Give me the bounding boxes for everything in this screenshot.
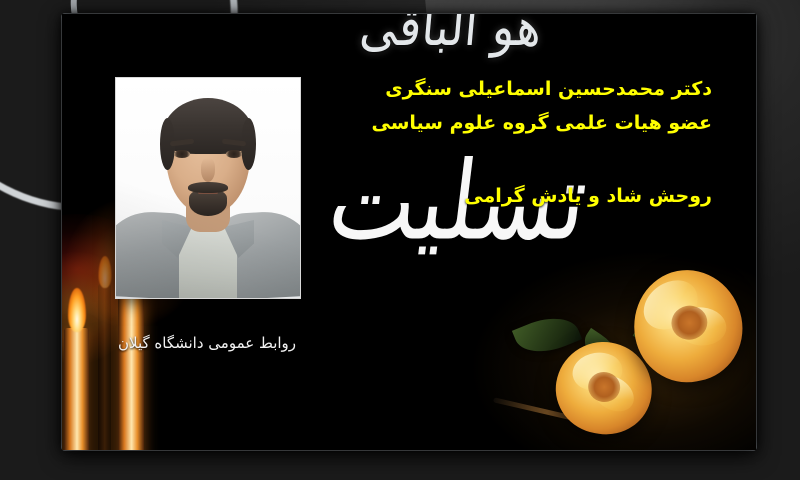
rose-icon-right [624,261,751,392]
candle-flame-icon [68,288,86,332]
metallic-picture-frame: هو الباقی تسلیت [62,14,756,450]
rose-petal [570,349,625,394]
candle-flame-icon [98,256,111,288]
candle-icon-2 [64,280,89,450]
portrait-image [116,78,300,298]
poster-canvas: هو الباقی تسلیت [62,14,756,450]
rose-petal [675,305,728,347]
portrait-nose [201,158,215,182]
portrait-photo [116,78,300,298]
candle-body [98,284,111,450]
roses-icon [464,246,756,450]
candle-icon-3 [98,244,111,450]
rose-core [668,303,710,343]
rose-leaf-icon-3 [633,307,670,347]
poster-canvas-inner: هو الباقی تسلیت [62,14,756,450]
rose-leaf-icon-2 [576,328,627,374]
memorial-wish: روحش شاد و یادش گرامی [464,181,712,211]
candle-body [118,284,144,450]
calligraphy-hoval-baghi: هو الباقی [357,14,544,58]
rose-stem-icon [493,397,613,429]
rose-core [586,370,622,405]
rose-petal [586,368,640,418]
deceased-title-block: دکتر محمدحسین اسماعیلی سنگری عضو هیات عل… [372,72,713,140]
candle-body [64,328,89,450]
portrait-eye-left [174,150,190,158]
portrait-mustache [188,182,228,193]
deceased-name: دکتر محمدحسین اسماعیلی سنگری [372,72,713,106]
publisher-credit: روابط عمومی دانشگاه گیلان [118,332,296,354]
portrait-shirt [179,226,237,298]
rose-icon-left [549,335,658,441]
portrait-eye-right [226,150,242,158]
condolence-poster: هو الباقی تسلیت [0,0,800,480]
rose-petal [634,270,707,339]
rose-bloom [624,261,751,392]
rose-bloom [549,335,658,441]
deceased-role: عضو هیات علمی گروه علوم سیاسی [372,106,713,140]
rose-leaf-icon-1 [512,308,582,363]
rose-backlight [464,246,756,450]
